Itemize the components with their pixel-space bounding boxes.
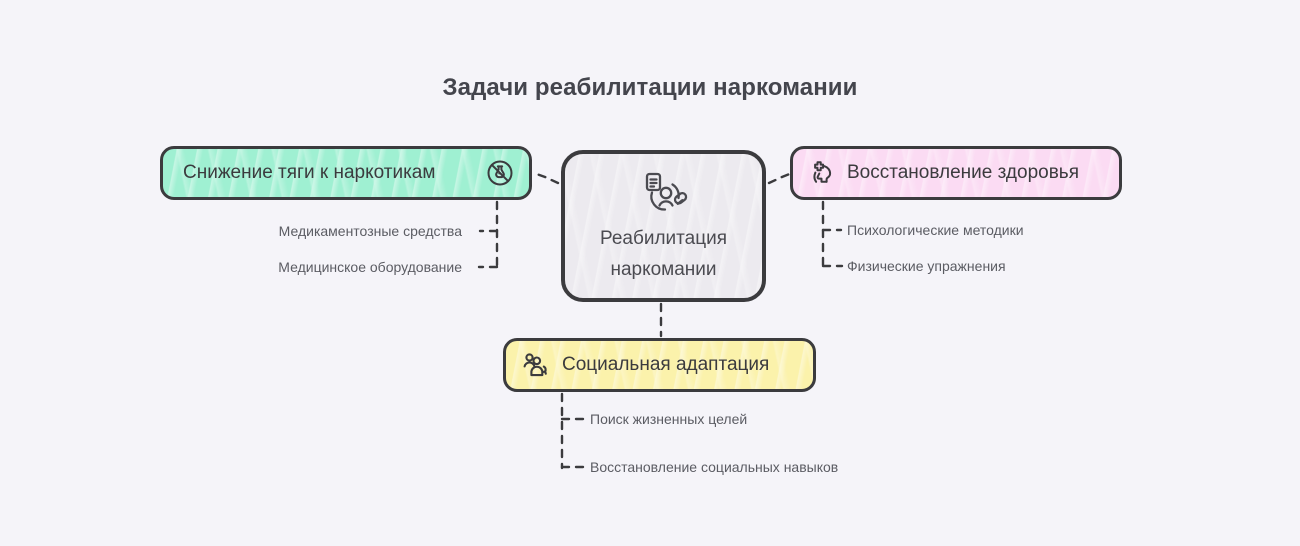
central-node[interactable]: Реабилитация наркомании <box>561 150 766 302</box>
branch-label-social: Социальная адаптация <box>562 354 769 376</box>
branch-node-social[interactable]: Социальная адаптация <box>503 338 816 392</box>
branch-node-craving[interactable]: Снижение тяги к наркотикам <box>160 146 532 200</box>
central-node-line2: наркомании <box>610 257 716 282</box>
leaf-label: Психологические методики <box>847 222 1024 238</box>
no-drugs-icon <box>485 158 515 188</box>
page-title: Задачи реабилитации наркомании <box>0 74 1300 102</box>
branch-label-craving: Снижение тяги к наркотикам <box>183 162 435 184</box>
branch-node-health[interactable]: Восстановление здоровья <box>790 146 1122 200</box>
leaf-label: Медицинское оборудование <box>262 259 462 275</box>
person-document-pill-icon <box>636 170 692 216</box>
people-group-arrow-icon <box>520 350 552 380</box>
leaf-label: Физические упражнения <box>847 258 1006 274</box>
mindmap-canvas: Задачи реабилитации наркомании <box>0 0 1300 546</box>
link-center-health <box>769 173 792 183</box>
leaf-label: Поиск жизненных целей <box>590 411 747 427</box>
leaf-label: Медикаментозные средства <box>262 223 462 239</box>
leaf-label: Восстановление социальных навыков <box>590 459 838 475</box>
head-plus-health-icon <box>807 158 837 188</box>
link-center-craving <box>534 173 558 183</box>
central-node-line1: Реабилитация <box>600 226 727 251</box>
branch-label-health: Восстановление здоровья <box>847 162 1079 184</box>
